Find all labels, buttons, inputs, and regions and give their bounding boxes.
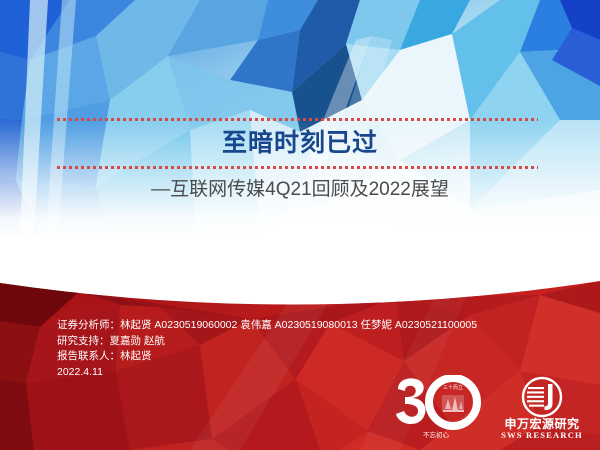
credits-contact: 报告联系人：林起贤	[57, 349, 557, 365]
sws-brand-cn: 申万宏源研究	[504, 416, 579, 431]
credits-block: 证券分析师：林起贤 A0230519060002 袁伟嘉 A0230519080…	[57, 318, 557, 380]
slide-canvas: 至暗时刻已过 —互联网传媒4Q21回顾及2022展望	[0, 0, 600, 450]
sws-brand-en: SWS RESEARCH	[501, 430, 583, 440]
page-title: 至暗时刻已过	[0, 124, 600, 162]
title-rule-bottom	[57, 166, 538, 169]
page-subtitle: —互联网传媒4Q21回顾及2022展望	[0, 176, 600, 204]
anniversary-cn-bottom: 不忘初心	[423, 430, 450, 439]
sws-research-logo: 申万宏源研究 SWS RESEARCH	[496, 374, 588, 442]
logo-area: 三十而立 不忘初心 申万宏源研究 SWS RESEARCH	[390, 372, 588, 444]
credits-support: 研究支持：夏嘉勋 赵航	[57, 334, 557, 350]
credits-analysts: 证券分析师：林起贤 A0230519060002 袁伟嘉 A0230519080…	[57, 318, 557, 334]
anniversary-cn-top: 三十而立	[443, 384, 463, 391]
title-rule-top	[57, 118, 538, 121]
anniversary-30-logo: 三十而立 不忘初心	[390, 375, 482, 441]
